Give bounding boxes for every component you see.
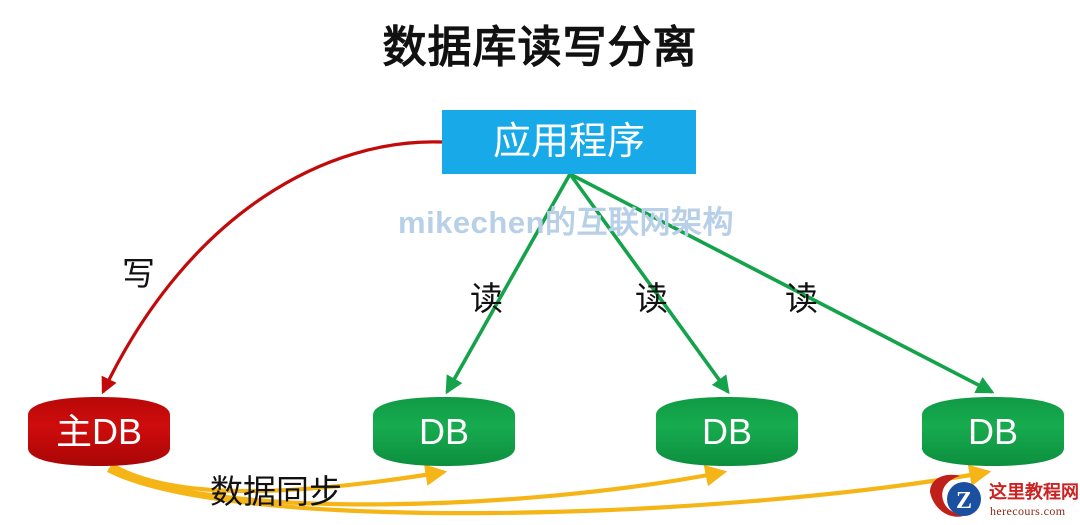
master-db-label: 主DB — [56, 411, 142, 452]
slave-db-node-1[interactable]: DB — [373, 397, 515, 466]
slave-db-label-3: DB — [968, 411, 1018, 452]
diagram-canvas: 数据库读写分离 写 读 读 读 数据同步 mikechen的互联网架构 应用程序… — [0, 0, 1080, 525]
logo-letter: Z — [956, 488, 972, 514]
read-edge-label-1: 读 — [470, 280, 503, 317]
slave-db-node-3[interactable]: DB — [922, 397, 1064, 466]
logo-site-name: 这里教程网 — [989, 481, 1079, 502]
page-title: 数据库读写分离 — [383, 23, 698, 72]
site-logo[interactable]: Z 这里教程网 herecours.com — [930, 475, 1079, 518]
read-edge-label-3: 读 — [785, 280, 818, 317]
logo-site-url: herecours.com — [990, 504, 1066, 518]
write-edge-label: 写 — [122, 255, 155, 292]
slave-db-label-1: DB — [419, 411, 469, 452]
app-node[interactable]: 应用程序 — [442, 110, 696, 174]
master-db-node[interactable]: 主DB — [28, 397, 170, 466]
slave-db-label-2: DB — [702, 411, 752, 452]
watermark-label: mikechen的互联网架构 — [398, 205, 734, 240]
sync-edge-arrow-2 — [110, 467, 724, 504]
database-read-write-split-diagram: 数据库读写分离 写 读 读 读 数据同步 mikechen的互联网架构 应用程序… — [0, 0, 1080, 525]
app-node-label: 应用程序 — [493, 121, 645, 163]
slave-db-node-2[interactable]: DB — [656, 397, 798, 466]
read-edge-label-2: 读 — [635, 280, 668, 317]
sync-edge-label: 数据同步 — [210, 473, 342, 510]
